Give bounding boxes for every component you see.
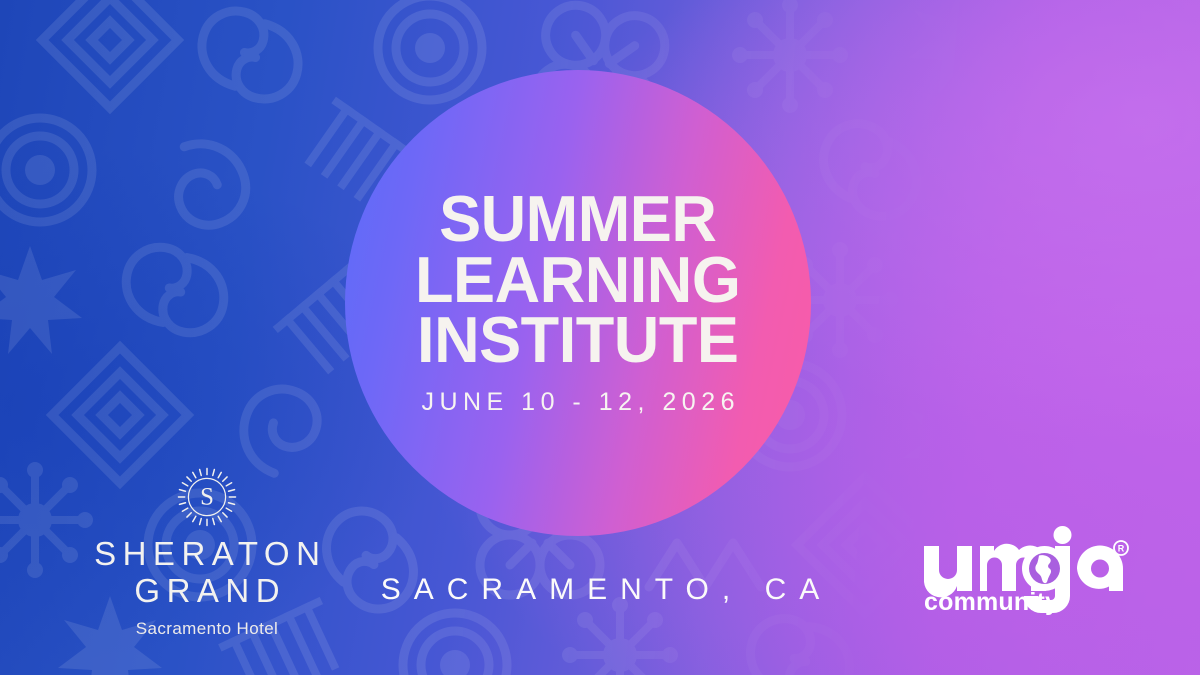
event-title-line-1: SUMMER <box>415 189 740 249</box>
sheraton-brand-line-1: SHERATON <box>78 536 336 573</box>
event-promo-poster: SUMMER LEARNING INSTITUTE JUNE 10 - 12, … <box>0 0 1200 675</box>
event-title: SUMMER LEARNING INSTITUTE <box>410 189 745 370</box>
globe-icon <box>1022 546 1067 591</box>
sheraton-property-name: Sacramento Hotel <box>78 619 336 639</box>
sheraton-logo-lockup: S SHERATON GRAND Sacramento Hotel <box>78 466 336 639</box>
event-dates: JUNE 10 - 12, 2026 <box>416 388 740 417</box>
umoja-logo-graphic: R community <box>922 538 1127 616</box>
hero-text-block: SUMMER LEARNING INSTITUTE JUNE 10 - 12, … <box>345 70 811 536</box>
umoja-community-logo: R community <box>922 538 1127 616</box>
svg-text:R: R <box>1118 544 1125 554</box>
sheraton-emblem-letter: S <box>200 484 214 511</box>
event-title-line-2: LEARNING <box>415 250 740 310</box>
umoja-tagline: community <box>924 588 1059 616</box>
event-title-line-3: INSTITUTE <box>415 310 740 370</box>
sheraton-emblem-icon: S <box>176 466 238 528</box>
registered-trademark-icon: R <box>1114 541 1128 555</box>
